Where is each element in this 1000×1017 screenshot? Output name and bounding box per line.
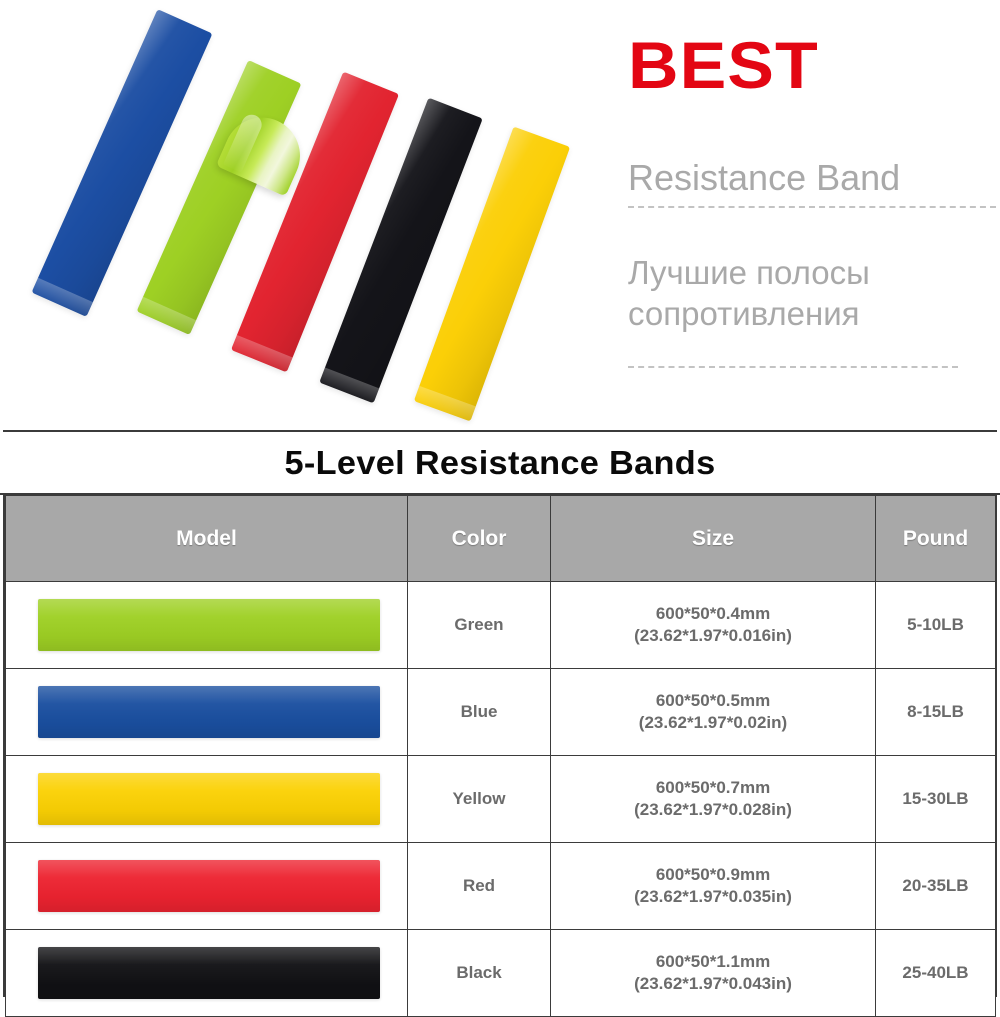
spec-table-title: 5-Level Resistance Bands — [0, 432, 1000, 495]
size-cell: 600*50*1.1mm (23.62*1.97*0.043in) — [551, 930, 876, 1017]
size-cell: 600*50*0.9mm (23.62*1.97*0.035in) — [551, 843, 876, 930]
size-in: (23.62*1.97*0.02in) — [639, 713, 787, 732]
column-header-color: Color — [408, 496, 551, 582]
table-row: Blue 600*50*0.5mm (23.62*1.97*0.02in) 8-… — [6, 669, 996, 756]
hero-text-block: BEST Resistance Band Лучшие полосы сопро… — [620, 0, 1000, 430]
divider-dashed-bottom — [628, 366, 958, 368]
size-in: (23.62*1.97*0.016in) — [634, 626, 792, 645]
column-header-size: Size — [551, 496, 876, 582]
tagline-russian: Лучшие полосы сопротивления — [628, 252, 1000, 334]
model-cell — [6, 843, 408, 930]
swatch-holder — [6, 670, 407, 754]
swatch-holder — [6, 931, 407, 1015]
band-swatch-black — [38, 947, 380, 999]
swatch-holder — [6, 844, 407, 928]
size-cell: 600*50*0.4mm (23.62*1.97*0.016in) — [551, 582, 876, 669]
product-infographic: BEST Resistance Band Лучшие полосы сопро… — [0, 0, 1000, 1000]
size-cell: 600*50*0.5mm (23.62*1.97*0.02in) — [551, 669, 876, 756]
model-cell — [6, 582, 408, 669]
tagline-russian-line1: Лучшие полосы — [628, 254, 870, 291]
hero-section: BEST Resistance Band Лучшие полосы сопро… — [0, 0, 1000, 430]
size-mm: 600*50*0.7mm — [656, 778, 770, 797]
table-row: Green 600*50*0.4mm (23.62*1.97*0.016in) … — [6, 582, 996, 669]
swatch-sheen — [38, 599, 380, 651]
color-cell: Blue — [408, 669, 551, 756]
size-in: (23.62*1.97*0.028in) — [634, 800, 792, 819]
model-cell — [6, 669, 408, 756]
pound-cell: 20-35LB — [876, 843, 996, 930]
table-row: Yellow 600*50*0.7mm (23.62*1.97*0.028in)… — [6, 756, 996, 843]
tagline-english: Resistance Band — [628, 158, 900, 198]
size-mm: 600*50*1.1mm — [656, 952, 770, 971]
model-cell — [6, 930, 408, 1017]
pound-cell: 15-30LB — [876, 756, 996, 843]
model-cell — [6, 756, 408, 843]
tagline-russian-line2: сопротивления — [628, 295, 860, 332]
size-in: (23.62*1.97*0.035in) — [634, 887, 792, 906]
pound-cell: 25-40LB — [876, 930, 996, 1017]
table-row: Red 600*50*0.9mm (23.62*1.97*0.035in) 20… — [6, 843, 996, 930]
swatch-holder — [6, 757, 407, 841]
band-swatch-red — [38, 860, 380, 912]
product-photo — [0, 0, 640, 430]
size-mm: 600*50*0.4mm — [656, 604, 770, 623]
swatch-sheen — [38, 686, 380, 738]
band-swatch-green — [38, 599, 380, 651]
pound-cell: 5-10LB — [876, 582, 996, 669]
spec-table: Model Color Size Pound Green — [5, 495, 996, 1017]
table-header-row: Model Color Size Pound — [6, 496, 996, 582]
color-cell: Red — [408, 843, 551, 930]
band-swatch-yellow — [38, 773, 380, 825]
column-header-model: Model — [6, 496, 408, 582]
pound-cell: 8-15LB — [876, 669, 996, 756]
spec-table-container: 5-Level Resistance Bands Model Color Siz… — [3, 430, 997, 997]
color-cell: Green — [408, 582, 551, 669]
swatch-sheen — [38, 947, 380, 999]
size-mm: 600*50*0.9mm — [656, 865, 770, 884]
table-row: Black 600*50*1.1mm (23.62*1.97*0.043in) … — [6, 930, 996, 1017]
swatch-holder — [6, 583, 407, 667]
size-mm: 600*50*0.5mm — [656, 691, 770, 710]
table-body: Green 600*50*0.4mm (23.62*1.97*0.016in) … — [6, 582, 996, 1017]
best-badge: BEST — [628, 32, 819, 98]
size-cell: 600*50*0.7mm (23.62*1.97*0.028in) — [551, 756, 876, 843]
band-swatch-blue — [38, 686, 380, 738]
color-cell: Black — [408, 930, 551, 1017]
divider-dashed-top — [628, 206, 996, 208]
color-cell: Yellow — [408, 756, 551, 843]
swatch-sheen — [38, 773, 380, 825]
swatch-sheen — [38, 860, 380, 912]
column-header-pound: Pound — [876, 496, 996, 582]
size-in: (23.62*1.97*0.043in) — [634, 974, 792, 993]
